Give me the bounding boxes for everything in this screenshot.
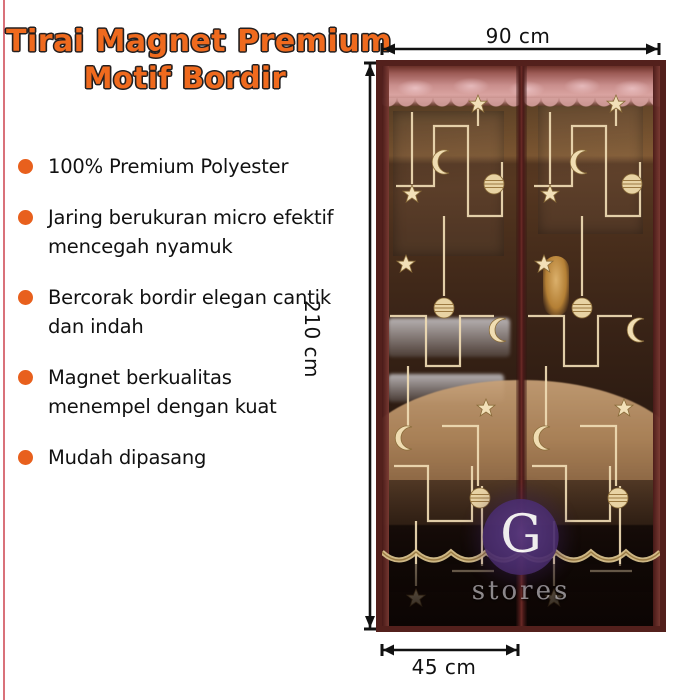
bullet-icon [18,450,33,465]
feature-label: 100% Premium Polyester [48,152,288,181]
feature-label: Bercorak bordir elegan cantik dan indah [48,283,338,341]
list-item: Jaring berukuran micro efektif mencegah … [0,203,368,261]
width-dimension-arrow-icon [379,42,662,56]
list-item: Mudah dipasang [0,443,368,472]
bullet-icon [18,370,33,385]
product-column: 90 cm 210 cm 45 cm [368,0,700,700]
bullet-icon [18,210,33,225]
product-infographic: Tirai Magnet Premium Motif Bordir 100% P… [0,0,700,700]
right-hem [653,66,660,626]
bullet-icon [18,159,33,174]
panel-dimension-label: 45 cm [368,655,520,679]
feature-label: Magnet berkualitas menempel dengan kuat [48,363,338,421]
height-dimension-label: 210 cm [300,300,324,378]
bottom-scallop-trim [382,548,660,568]
title-line-1: Tirai Magnet Premium [6,24,364,60]
product-image: G stores [376,60,666,632]
list-item: 100% Premium Polyester [0,152,368,181]
left-hem [382,66,389,626]
feature-label: Jaring berukuran micro efektif mencegah … [48,203,338,261]
page-title: Tirai Magnet Premium Motif Bordir [6,24,364,96]
bullet-icon [18,290,33,305]
center-seam [516,66,527,626]
feature-label: Mudah dipasang [48,443,206,472]
title-line-2: Motif Bordir [6,60,364,96]
